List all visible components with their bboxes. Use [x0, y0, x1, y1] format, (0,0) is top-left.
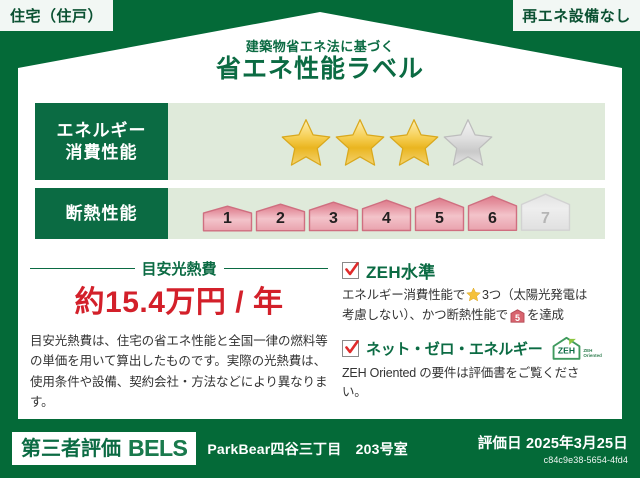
star-icon	[466, 287, 481, 302]
star-filled-icon	[334, 117, 386, 167]
check-desc-net-zero-energy: ZEH Oriented の要件は評価書をご覧ください。	[342, 364, 596, 404]
utility-cost-heading-text: 目安光熱費	[142, 258, 217, 279]
insulation-level-4: 4	[361, 199, 412, 232]
footer: 第三者評価 BELS ParkBear四谷三丁目 203号室 評価日 2025年…	[0, 419, 640, 478]
check-title-zeh-level: ZEH水準	[366, 258, 436, 283]
insulation-level-2: 2	[255, 203, 306, 232]
check-item-zeh-level: ZEH水準 エネルギー消費性能で 3つ（太陽光発電は考慮しない）、かつ断熱性能で…	[342, 258, 596, 330]
insulation-level-number: 6	[467, 210, 518, 228]
insulation-level-7: 7	[520, 193, 571, 231]
rule-left	[30, 268, 135, 269]
checkbox-checked-icon-2[interactable]	[342, 340, 359, 357]
insulation-level-number: 5	[414, 210, 465, 228]
bels-badge-en: BELS	[128, 437, 187, 460]
star-empty-icon	[442, 117, 494, 167]
checkbox-checked-icon[interactable]	[342, 262, 359, 279]
zeh-logo-sub-line2: Oriented	[583, 353, 602, 358]
check-desc-zeh-level: エネルギー消費性能で 3つ（太陽光発電は考慮しない）、かつ断熱性能で 5 を達成	[342, 286, 596, 330]
check-head-zeh-level: ZEH水準	[342, 258, 596, 283]
check-desc-part1: エネルギー消費性能で	[342, 288, 465, 302]
zeh-logo-subtext: ZEH Oriented	[583, 348, 602, 358]
star-filled-icon	[280, 117, 332, 167]
insulation-level-number: 7	[520, 210, 571, 228]
insulation-level-number: 1	[202, 210, 253, 228]
checkmark-icon	[344, 260, 360, 280]
rule-right	[224, 268, 329, 269]
utility-cost-heading: 目安光熱費	[30, 258, 328, 279]
insulation-level-number: 2	[255, 210, 306, 228]
ratings-section: エネルギー 消費性能 断熱性能 1234567	[35, 103, 605, 247]
insulation-badge-icon: 5	[510, 309, 525, 330]
title-subtitle: 建築物省エネ法に基づく	[0, 40, 640, 54]
row-insulation-performance: 断熱性能 1234567	[35, 188, 605, 239]
property-name: ParkBear四谷三丁目 203号室	[207, 439, 408, 459]
title-main: 省エネ性能ラベル	[0, 54, 640, 85]
zeh-logo: ZEH ZEH Oriented	[551, 336, 602, 361]
row-insulation-label: 断熱性能	[35, 188, 168, 239]
tag-renewable-equipment: 再エネ設備なし	[513, 0, 640, 31]
insulation-level-1: 1	[202, 205, 253, 232]
row-energy-value	[168, 103, 605, 180]
footer-meta: 評価日 2025年3月25日 c84c9e38-5654-4fd4	[478, 432, 628, 465]
page-title: 建築物省エネ法に基づく 省エネ性能ラベル	[0, 40, 640, 86]
star-rating	[280, 117, 494, 167]
evaluation-date: 評価日 2025年3月25日	[478, 432, 628, 453]
check-item-net-zero-energy: ネット・ゼロ・エネルギー ZEH ZEH Oriented ZEH Ori	[342, 336, 596, 404]
insulation-badge-value: 5	[510, 311, 525, 325]
zeh-house-icon: ZEH	[551, 336, 582, 361]
insulation-level-number: 3	[308, 210, 359, 228]
insulation-level-number: 4	[361, 210, 412, 228]
row-energy-label-line2: 消費性能	[66, 142, 138, 163]
bels-badge-jp: 第三者評価	[21, 439, 121, 459]
row-energy-performance: エネルギー 消費性能	[35, 103, 605, 180]
check-desc-part3: を達成	[527, 308, 564, 322]
bels-energy-label: 住宅（住戸） 再エネ設備なし 建築物省エネ法に基づく 省エネ性能ラベル エネルギ…	[0, 0, 640, 478]
tag-dwelling-type: 住宅（住戸）	[0, 0, 113, 31]
row-insulation-label-line1: 断熱性能	[66, 203, 138, 224]
utility-cost-note: 目安光熱費は、住宅の省エネ性能と全国一律の燃料等の単価を用いて算出したものです。…	[30, 331, 328, 412]
check-title-net-zero-energy: ネット・ゼロ・エネルギー	[366, 338, 542, 359]
insulation-level-scale: 1234567	[202, 193, 571, 233]
utility-cost-value: 約15.4万円 / 年	[30, 286, 328, 319]
svg-text:ZEH: ZEH	[558, 345, 575, 355]
lower-section: 目安光熱費 約15.4万円 / 年 目安光熱費は、住宅の省エネ性能と全国一律の燃…	[30, 258, 610, 412]
check-head-net-zero-energy: ネット・ゼロ・エネルギー ZEH ZEH Oriented	[342, 336, 596, 361]
row-insulation-value: 1234567	[168, 188, 605, 239]
row-energy-label: エネルギー 消費性能	[35, 103, 168, 180]
insulation-level-6: 6	[467, 195, 518, 232]
zeh-checks-column: ZEH水準 エネルギー消費性能で 3つ（太陽光発電は考慮しない）、かつ断熱性能で…	[328, 258, 596, 412]
bels-badge: 第三者評価 BELS	[12, 432, 196, 465]
utility-cost-column: 目安光熱費 約15.4万円 / 年 目安光熱費は、住宅の省エネ性能と全国一律の燃…	[30, 258, 328, 412]
evaluation-id: c84c9e38-5654-4fd4	[478, 455, 628, 465]
insulation-level-3: 3	[308, 201, 359, 232]
checkmark-icon-2	[344, 338, 360, 358]
insulation-level-5: 5	[414, 197, 465, 232]
row-energy-label-line1: エネルギー	[57, 120, 147, 141]
star-filled-icon	[388, 117, 440, 167]
